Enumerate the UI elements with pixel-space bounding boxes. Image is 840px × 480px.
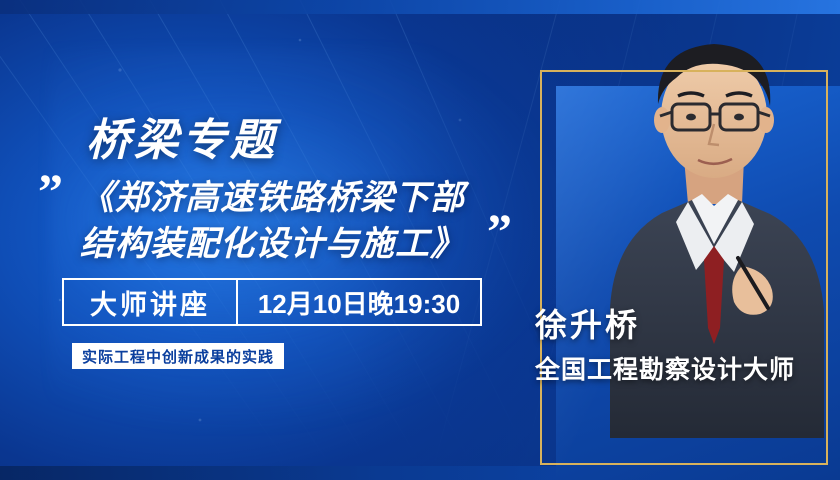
lecture-info-bar: 大师讲座 12月10日晚19:30 xyxy=(62,278,482,326)
speaker-nameplate: 徐升桥 全国工程勘察设计大师 xyxy=(535,300,840,380)
poster-root: 桥梁专题 ” ” 《郑济高速铁路桥梁下部 结构装配化设计与施工》 大师讲座 12… xyxy=(0,0,840,480)
speaker-name: 徐升桥 xyxy=(535,300,840,346)
quote-open-icon: ” xyxy=(38,166,63,216)
subtitle-chip: 实际工程中创新成果的实践 xyxy=(72,343,284,369)
lecture-time: 12月10日晚19:30 xyxy=(238,284,480,321)
lecture-title: 《郑济高速铁路桥梁下部 结构装配化设计与施工》 xyxy=(80,176,500,268)
photo-gold-frame xyxy=(540,70,828,465)
lecture-label: 大师讲座 xyxy=(64,283,236,322)
lecture-title-line2: 结构装配化设计与施工》 xyxy=(80,222,500,268)
lecture-title-line1: 《郑济高速铁路桥梁下部 xyxy=(80,176,500,222)
page-title: 桥梁专题 xyxy=(86,104,278,168)
speaker-title: 全国工程勘察设计大师 xyxy=(535,350,840,386)
